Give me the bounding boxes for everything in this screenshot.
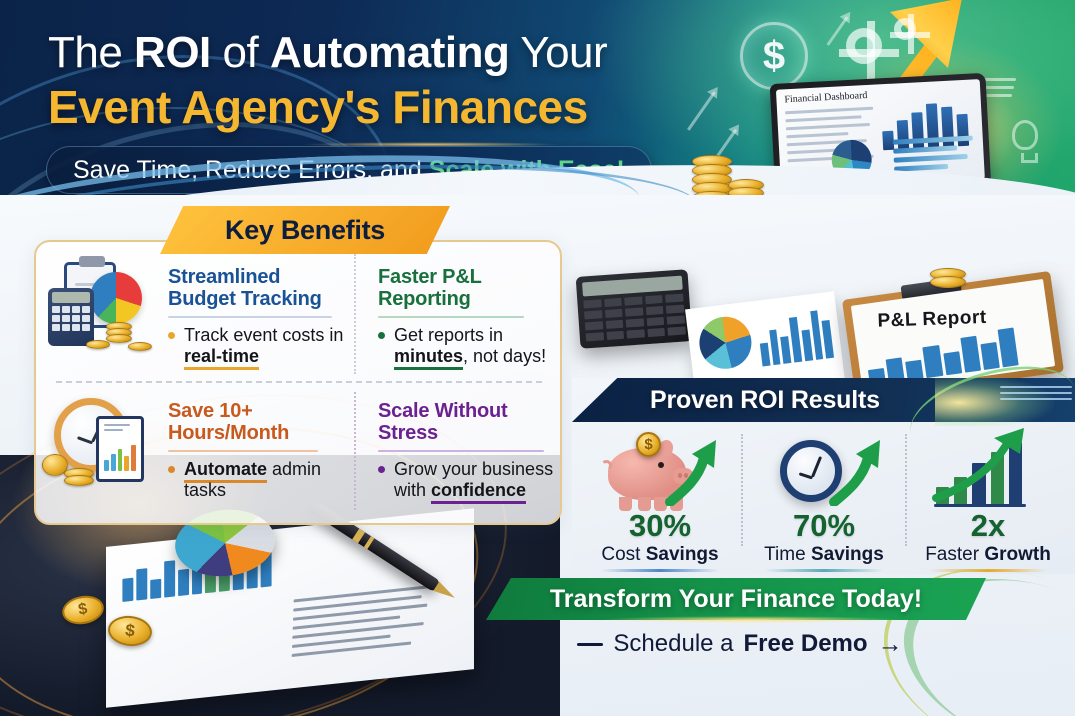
benefit-cell-1: Streamlined Budget Tracking Track event … bbox=[168, 266, 346, 368]
arrow-right-icon: → bbox=[878, 630, 903, 659]
green-up-arrow-icon-1 bbox=[664, 436, 720, 506]
green-up-arrow-icon-2 bbox=[828, 434, 884, 506]
benefit-3-heading: Save 10+ Hours/Month bbox=[168, 400, 350, 445]
benefit-2-body-highlight: minutes bbox=[394, 346, 463, 370]
roi-stat-3-label-bold: Growth bbox=[984, 544, 1051, 565]
title-plain-3: Your bbox=[509, 28, 607, 77]
benefit-2-body: Get reports in minutes, not days! bbox=[378, 325, 558, 368]
dollar-sign-icon: $ bbox=[740, 22, 808, 90]
benefit-1-body-highlight: real-time bbox=[184, 346, 259, 370]
roi-stat-2-label: Time Savings bbox=[764, 544, 884, 566]
benefit-3-body-highlight: Automate bbox=[184, 459, 267, 483]
proven-roi-heading: Proven ROI Results bbox=[650, 386, 880, 415]
cta-sub-bold: Free Demo bbox=[744, 630, 868, 658]
benefit-4-bullet bbox=[378, 466, 385, 473]
benefit-cell-2: Faster P&L Reporting Get reports in minu… bbox=[378, 266, 558, 368]
dashboard-progress-bars bbox=[893, 136, 975, 176]
proven-roi-stats: $ 30% Cost Savings 70% bbox=[578, 424, 1070, 572]
roi-stat-2-value: 70% bbox=[793, 510, 855, 541]
benefit-3-heading-line2: Hours/Month bbox=[168, 422, 289, 444]
title-plain-1: The bbox=[48, 28, 134, 77]
gear-icon-large bbox=[846, 28, 882, 64]
benefit-1-rule bbox=[168, 316, 332, 318]
dashboard-title: Financial Dashboard bbox=[784, 90, 868, 105]
benefit-2-heading: Faster P&L Reporting bbox=[378, 266, 558, 311]
lightbulb-icon bbox=[1012, 120, 1038, 150]
benefit-cell-3: Save 10+ Hours/Month Automate admin task… bbox=[168, 400, 350, 502]
roi-stat-1-underline bbox=[601, 569, 719, 572]
report-mini-bars bbox=[104, 443, 136, 471]
roi-stat-1-value: 30% bbox=[629, 510, 691, 541]
report-icon bbox=[96, 416, 144, 482]
benefit-1-heading: Streamlined Budget Tracking bbox=[168, 266, 346, 311]
benefit-3-heading-line1: Save 10+ bbox=[168, 400, 253, 422]
decor-roi-lines bbox=[1000, 386, 1072, 404]
cta-banner[interactable]: Transform Your Finance Today! bbox=[486, 578, 986, 620]
clock-report-icon bbox=[40, 392, 152, 496]
benefit-cell-4: Scale Without Stress Grow your business … bbox=[378, 400, 562, 502]
benefit-3-body: Automate admin tasks bbox=[168, 459, 350, 502]
key-benefits-divider-vertical-bottom bbox=[354, 392, 356, 510]
page-title-line2: Event Agency's Finances bbox=[48, 80, 588, 134]
benefit-2-heading-line1: Faster P&L bbox=[378, 266, 482, 288]
benefit-2-rule bbox=[378, 316, 524, 318]
bar-chart-growth-icon bbox=[906, 424, 1070, 508]
benefit-4-heading-line2: Stress bbox=[378, 422, 438, 444]
clock-icon bbox=[742, 424, 906, 508]
calculator-icon bbox=[48, 288, 94, 346]
benefit-3-rule bbox=[168, 450, 318, 452]
cta-dash-decor bbox=[577, 643, 603, 646]
roi-stat-1-label-bold: Savings bbox=[646, 544, 719, 565]
piggy-coin-icon: $ bbox=[636, 432, 661, 457]
calculator-photo bbox=[576, 269, 693, 349]
benefit-1-heading-line2: Budget Tracking bbox=[168, 288, 322, 310]
cta-schedule-demo[interactable]: Schedule a Free Demo → bbox=[520, 624, 960, 664]
benefit-1-bullet bbox=[168, 332, 175, 339]
key-benefits-divider-vertical-top bbox=[354, 254, 356, 374]
paper-pie-chart bbox=[696, 314, 754, 372]
roi-stat-2-underline bbox=[765, 569, 883, 572]
roi-stat-faster-growth: 2x Faster Growth bbox=[906, 424, 1070, 572]
roi-stat-1-label: Cost Savings bbox=[601, 544, 718, 566]
cta-banner-label: Transform Your Finance Today! bbox=[550, 585, 922, 614]
benefit-2-body-tail: , not days! bbox=[463, 346, 546, 366]
gear-icon-small bbox=[894, 18, 916, 40]
benefit-1-body: Track event costs in real-time bbox=[168, 325, 346, 368]
benefit-4-body-highlight: confidence bbox=[431, 480, 526, 504]
infographic-page: $ Financial Dashboard bbox=[0, 0, 1075, 716]
benefit-1-heading-line1: Streamlined bbox=[168, 266, 280, 288]
page-title-line1: The ROI of Automating Your bbox=[48, 28, 607, 78]
pl-report-title: P&L Report bbox=[877, 307, 987, 333]
benefit-2-body-text: Get reports in bbox=[394, 325, 503, 345]
benefit-4-heading: Scale Without Stress bbox=[378, 400, 562, 445]
benefit-2-heading-line2: Reporting bbox=[378, 288, 471, 310]
benefit-4-body: Grow your business with confidence bbox=[378, 459, 562, 502]
title-bold-roi: ROI bbox=[134, 28, 211, 77]
header-banner: $ Financial Dashboard bbox=[0, 0, 1075, 205]
title-bold-automating: Automating bbox=[270, 28, 509, 77]
key-benefits-divider-horizontal bbox=[56, 381, 542, 383]
key-benefits-banner: Key Benefits bbox=[160, 206, 450, 254]
title-plain-2: of bbox=[211, 28, 270, 77]
decor-cta-glow bbox=[600, 616, 900, 623]
benefit-4-heading-line1: Scale Without bbox=[378, 400, 507, 422]
roi-stat-3-label: Faster Growth bbox=[925, 544, 1051, 566]
roi-stat-2-label-bold: Savings bbox=[811, 544, 884, 565]
benefit-1-body-text: Track event costs in bbox=[184, 325, 343, 345]
roi-stat-1-label-plain: Cost bbox=[601, 544, 645, 565]
roi-stat-cost-savings: $ 30% Cost Savings bbox=[578, 424, 742, 572]
roi-stat-time-savings: 70% Time Savings bbox=[742, 424, 906, 572]
pie-chart-icon bbox=[90, 272, 142, 324]
roi-stat-3-value: 2x bbox=[971, 510, 1005, 541]
growth-bars-baseline bbox=[934, 504, 1026, 507]
clipboard-calculator-piechart-icon bbox=[44, 252, 150, 358]
benefit-3-bullet bbox=[168, 466, 175, 473]
piggy-bank-icon: $ bbox=[578, 424, 742, 508]
cta-sub-plain: Schedule a bbox=[613, 630, 733, 658]
green-up-arrow-icon-3 bbox=[930, 426, 1034, 504]
roi-stat-3-label-plain: Faster bbox=[925, 544, 984, 565]
benefit-4-rule bbox=[378, 450, 544, 452]
benefit-2-bullet bbox=[378, 332, 385, 339]
roi-stat-2-label-plain: Time bbox=[764, 544, 811, 565]
key-benefits-banner-label: Key Benefits bbox=[225, 215, 385, 246]
paper-bar-chart bbox=[756, 306, 834, 366]
